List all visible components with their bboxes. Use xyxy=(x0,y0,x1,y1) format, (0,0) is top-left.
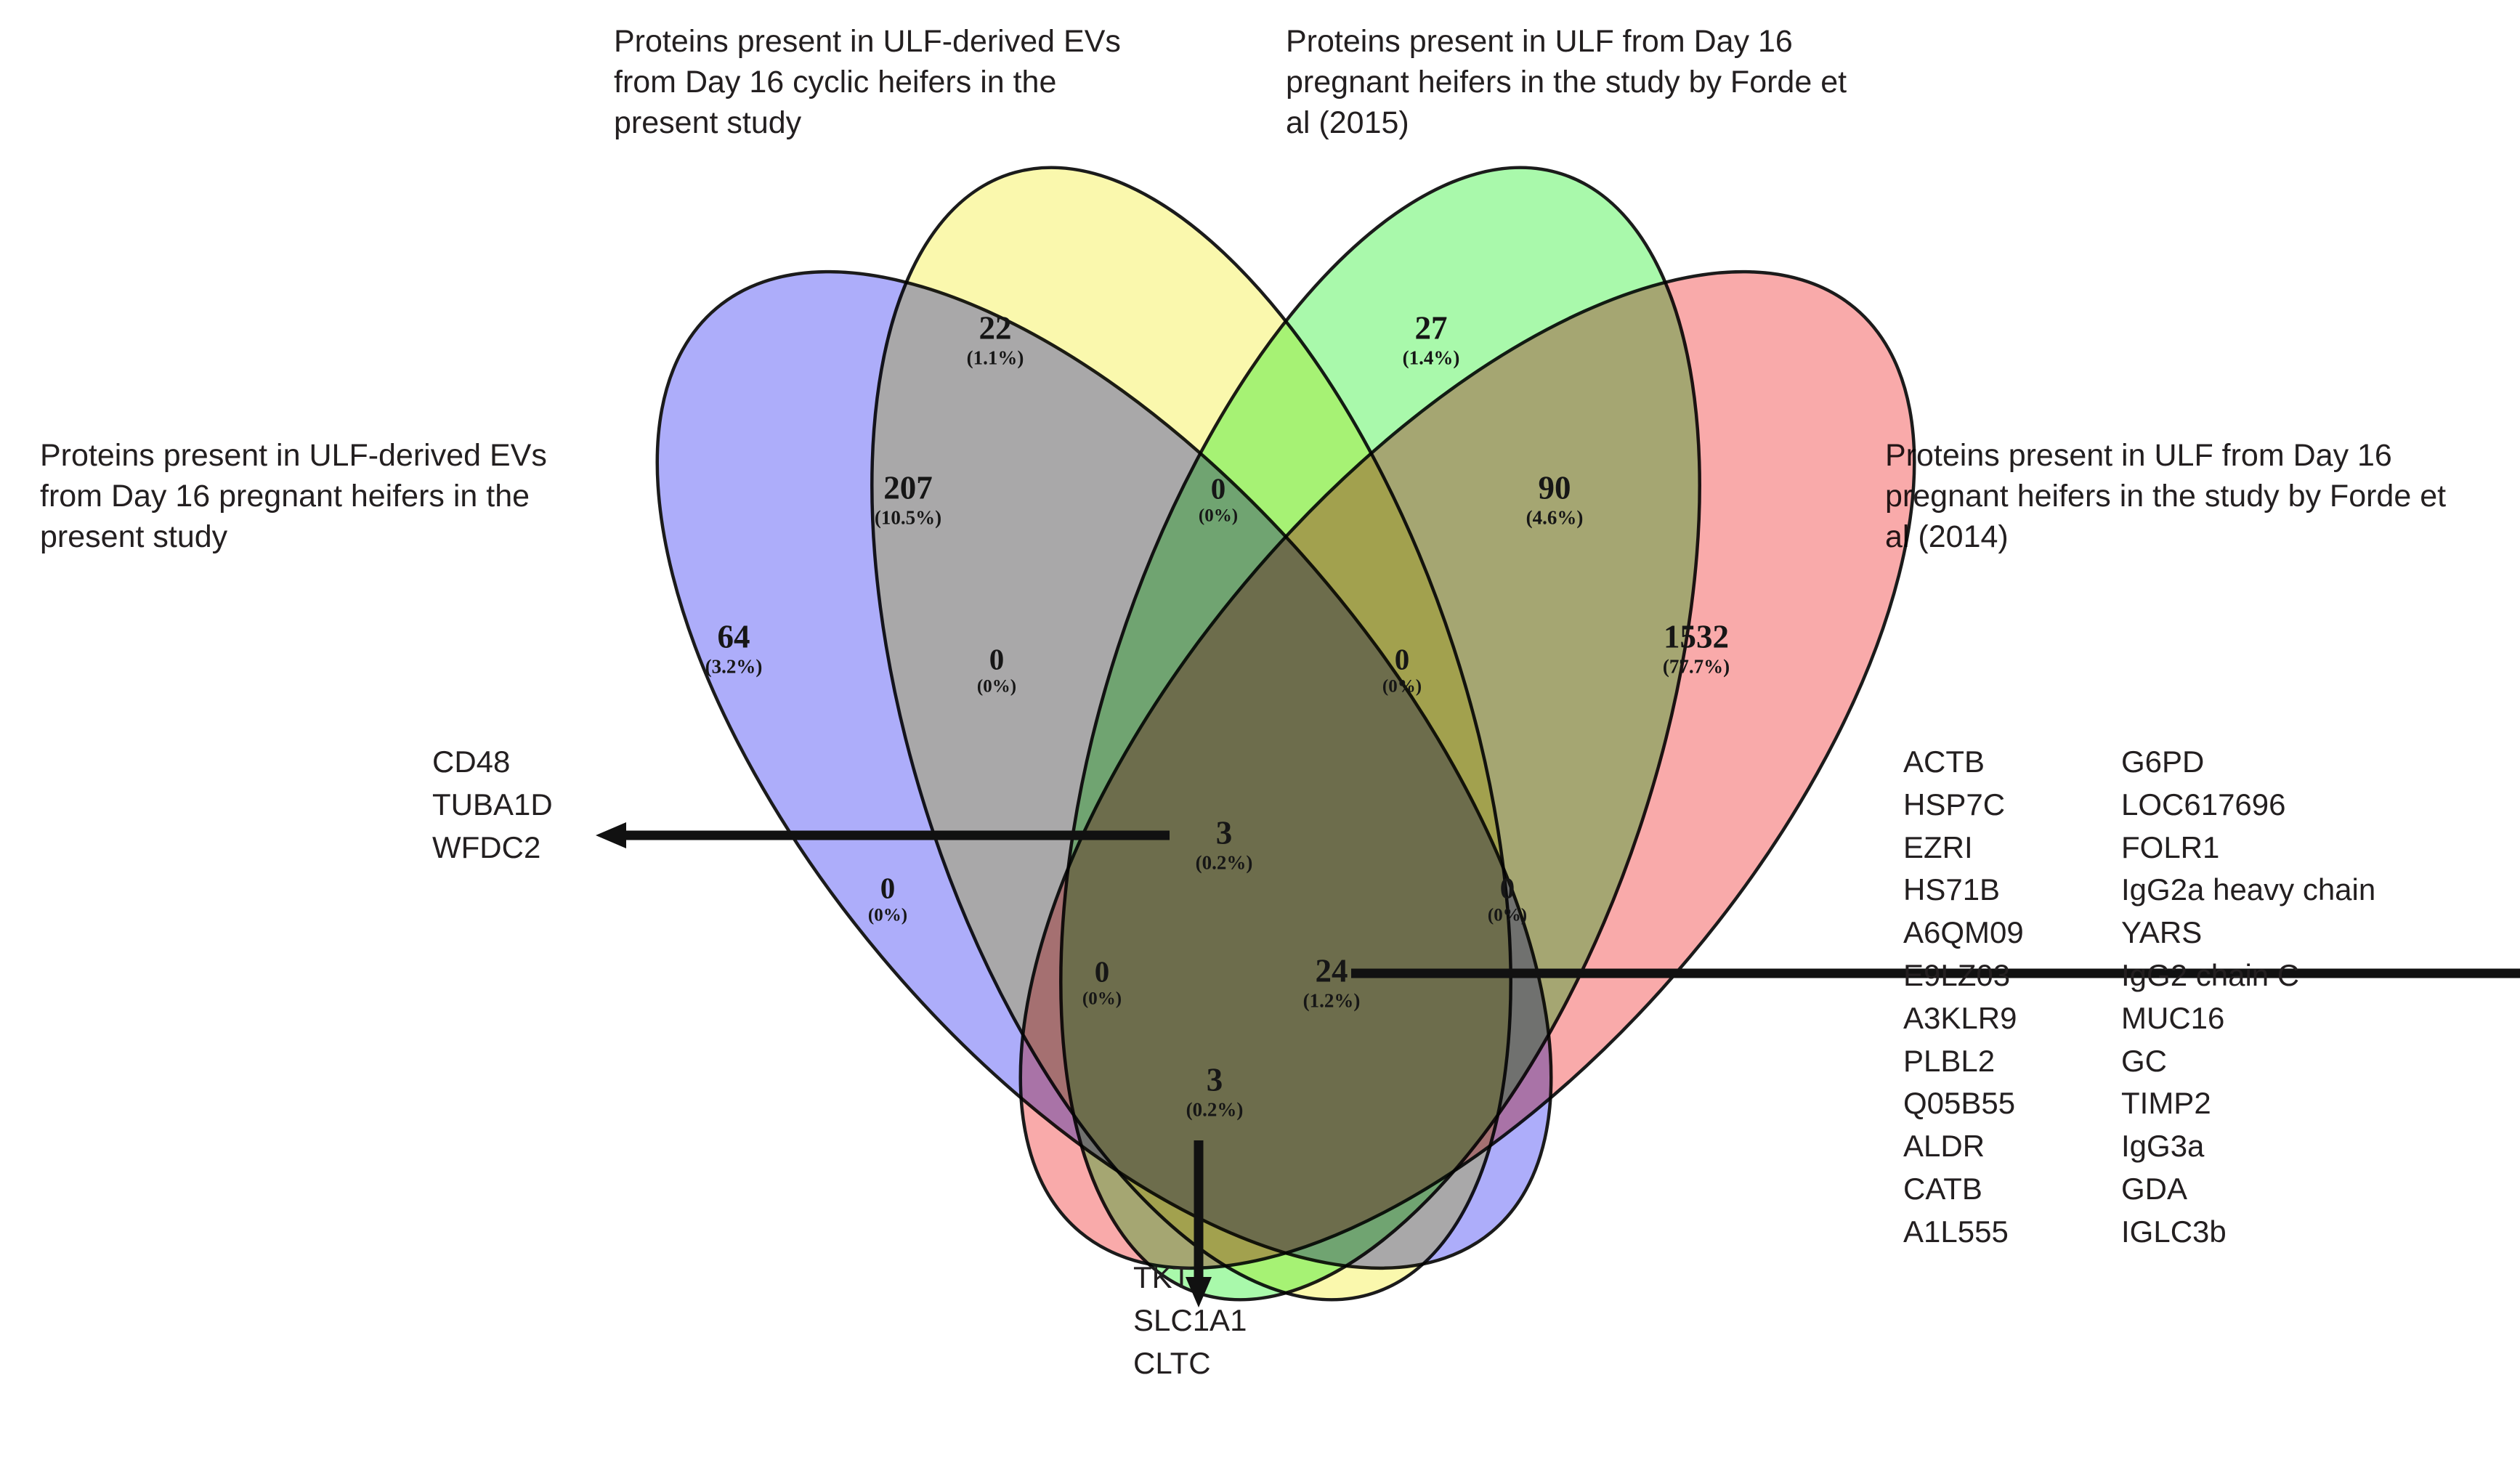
region-yellow-green-pink: 0 (0%) xyxy=(1382,645,1422,699)
gene-item: CLTC xyxy=(1133,1342,1247,1385)
region-percent: (1.4%) xyxy=(1403,344,1460,370)
gene-list-bottom: TKT SLC1A1 CLTC xyxy=(1133,1257,1247,1384)
gene-item: A6QM09 xyxy=(1903,912,2121,954)
region-yellow-only: 22 (1.1%) xyxy=(967,312,1024,370)
region-count: 3 xyxy=(1186,1063,1244,1096)
region-count: 90 xyxy=(1526,471,1584,504)
gene-item: ACTB xyxy=(1903,741,2121,784)
ellipse-yellow xyxy=(747,89,1635,1379)
set-label-blue: Proteins present in ULF-derived EVs from… xyxy=(40,436,563,558)
gene-item: TUBA1D xyxy=(432,784,553,827)
gene-list-right-column-2: G6PD LOC617696 FOLR1 IgG2a heavy chain Y… xyxy=(2121,741,2375,1254)
gene-item: CD48 xyxy=(432,741,553,784)
gene-item: WFDC2 xyxy=(432,827,553,869)
region-count: 64 xyxy=(705,620,763,653)
gene-item: PLBL2 xyxy=(1903,1040,2121,1083)
region-percent: (0%) xyxy=(1382,675,1422,699)
set-label-green: Proteins present in ULF from Day 16 preg… xyxy=(1286,22,1867,144)
gene-item: IgG3a xyxy=(2121,1125,2375,1168)
gene-item: GDA xyxy=(2121,1168,2375,1211)
region-count: 1532 xyxy=(1663,620,1730,653)
region-yellow-pink: 0 (0%) xyxy=(1488,874,1527,928)
gene-item: HS71B xyxy=(1903,869,2121,912)
gene-list-right-column-1: ACTB HSP7C EZRI HS71B A6QM09 E9LZ03 A3KL… xyxy=(1903,741,2121,1254)
region-percent: (0%) xyxy=(868,904,907,928)
gene-item: ALDR xyxy=(1903,1125,2121,1168)
region-percent: (0.2%) xyxy=(1186,1096,1244,1122)
venn-ellipse-group xyxy=(494,89,2078,1419)
gene-item: MUC16 xyxy=(2121,997,2375,1040)
gene-item: HSP7C xyxy=(1903,784,2121,827)
gene-list-left: CD48 TUBA1D WFDC2 xyxy=(432,741,553,869)
gene-item: IgG2a heavy chain xyxy=(2121,869,2375,912)
gene-item: CATB xyxy=(1903,1168,2121,1211)
region-green-only: 27 (1.4%) xyxy=(1403,312,1460,370)
gene-item: G6PD xyxy=(2121,741,2375,784)
region-count: 24 xyxy=(1303,954,1361,987)
region-percent: (1.1%) xyxy=(967,344,1024,370)
set-label-yellow: Proteins present in ULF-derived EVs from… xyxy=(614,22,1166,144)
region-percent: (0%) xyxy=(1199,504,1238,529)
region-percent: (3.2%) xyxy=(705,653,763,679)
gene-item: IGLC3b xyxy=(2121,1211,2375,1254)
region-yellow-green: 0 (0%) xyxy=(1199,474,1238,529)
gene-item: IgG2 chain C xyxy=(2121,954,2375,997)
gene-item: EZRI xyxy=(1903,827,2121,869)
region-percent: (0%) xyxy=(1488,904,1527,928)
gene-item: TIMP2 xyxy=(2121,1082,2375,1125)
region-count: 0 xyxy=(977,645,1016,675)
callout-arrow-left xyxy=(596,821,1170,850)
gene-item: GC xyxy=(2121,1040,2375,1083)
region-blue-pink: 3 (0.2%) xyxy=(1186,1063,1244,1122)
region-yellow-green-pink-lower: 24 (1.2%) xyxy=(1303,954,1361,1013)
region-green-pink: 90 (4.6%) xyxy=(1526,471,1584,530)
set-label-pink: Proteins present in ULF from Day 16 preg… xyxy=(1885,436,2459,558)
gene-item: LOC617696 xyxy=(2121,784,2375,827)
region-blue-only: 64 (3.2%) xyxy=(705,620,763,679)
ellipse-blue xyxy=(494,121,1714,1419)
gene-item: A1L555 xyxy=(1903,1211,2121,1254)
region-percent: (4.6%) xyxy=(1526,504,1584,530)
region-pink-only: 1532 (77.7%) xyxy=(1663,620,1730,679)
region-percent: (10.5%) xyxy=(875,504,941,530)
region-percent: (0%) xyxy=(1082,987,1122,1012)
gene-item: SLC1A1 xyxy=(1133,1299,1247,1342)
ellipse-green xyxy=(936,89,1824,1379)
gene-item: Q05B55 xyxy=(1903,1082,2121,1125)
region-count: 3 xyxy=(1196,816,1253,849)
region-blue-yellow: 207 (10.5%) xyxy=(875,471,941,530)
region-count: 207 xyxy=(875,471,941,504)
region-percent: (1.2%) xyxy=(1303,987,1361,1013)
region-blue-yellow-green-pink: 3 (0.2%) xyxy=(1196,816,1253,875)
region-blue-green: 0 (0%) xyxy=(868,874,907,928)
region-blue-yellow-green: 0 (0%) xyxy=(977,645,1016,699)
region-count: 0 xyxy=(1199,474,1238,504)
gene-item: E9LZ03 xyxy=(1903,954,2121,997)
gene-list-right: ACTB HSP7C EZRI HS71B A6QM09 E9LZ03 A3KL… xyxy=(1903,741,2375,1254)
gene-item: FOLR1 xyxy=(2121,827,2375,869)
region-percent: (0%) xyxy=(977,675,1016,699)
region-count: 0 xyxy=(868,874,907,904)
ellipse-pink xyxy=(857,121,2078,1419)
gene-item: A3KLR9 xyxy=(1903,997,2121,1040)
region-count: 0 xyxy=(1382,645,1422,675)
gene-item: TKT xyxy=(1133,1257,1247,1299)
region-percent: (77.7%) xyxy=(1663,653,1730,679)
region-count: 22 xyxy=(967,312,1024,344)
region-count: 0 xyxy=(1488,874,1527,904)
region-blue-green-pink: 0 (0%) xyxy=(1082,957,1122,1012)
gene-item: YARS xyxy=(2121,912,2375,954)
region-count: 27 xyxy=(1403,312,1460,344)
region-percent: (0.2%) xyxy=(1196,849,1253,875)
region-count: 0 xyxy=(1082,957,1122,987)
